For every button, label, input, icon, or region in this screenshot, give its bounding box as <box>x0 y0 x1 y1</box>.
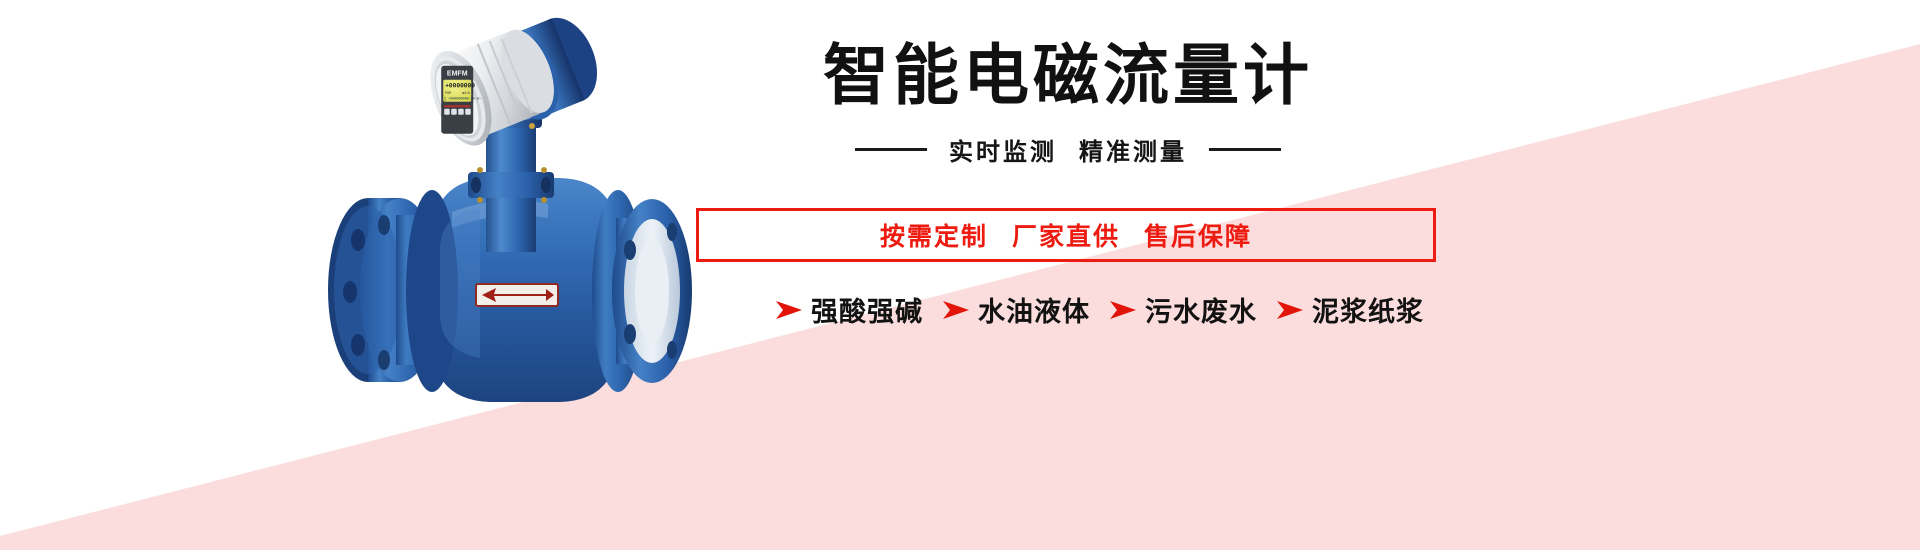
flow-direction-arrow-icon <box>476 284 558 306</box>
feature-label-0: 强酸强碱 <box>811 290 923 329</box>
lcd-main-value: +0000000 <box>445 83 475 90</box>
triangle-right-icon <box>1110 300 1136 320</box>
subtitle-part-two: 精准测量 <box>1079 132 1187 167</box>
lcd-label-right: m3/h <box>462 91 470 96</box>
status-badge: 按需定制 厂家直供 售后保障 <box>696 208 1436 262</box>
feature-item-3: 泥浆纸浆 <box>1277 290 1424 329</box>
subtitle-rule-right <box>1209 148 1281 151</box>
banner-copy: 智能电磁流量计 实时监测 精准测量 按需定制 厂家直供 售后保障 强酸强碱 <box>600 0 1600 550</box>
feature-label-3: 泥浆纸浆 <box>1312 290 1424 329</box>
triangle-right-icon <box>1277 300 1303 320</box>
subtitle-row: 实时监测 精准测量 <box>678 132 1458 167</box>
triangle-right-icon <box>776 300 802 320</box>
promo-banner: EMFM +0000000 FGP m3/h ∑ +000000000.00 m… <box>0 0 1920 550</box>
feature-item-1: 水油液体 <box>943 290 1090 329</box>
feature-item-0: 强酸强碱 <box>776 290 923 329</box>
feature-label-1: 水油液体 <box>978 290 1090 329</box>
transmitter-brand-text: EMFM <box>447 71 468 78</box>
feature-label-2: 污水废水 <box>1145 290 1257 329</box>
triangle-right-icon <box>943 300 969 320</box>
badge-item-two: 厂家直供 <box>1012 217 1120 253</box>
lcd-sub-value: ∑ +000000000.00 m³ <box>444 97 481 102</box>
subtitle-rule-left <box>855 148 927 151</box>
lcd-label-left: FGP <box>445 92 451 96</box>
feature-item-2: 污水废水 <box>1110 290 1257 329</box>
page-title: 智能电磁流量计 <box>678 42 1458 108</box>
badge-item-one: 按需定制 <box>880 217 988 253</box>
subtitle-part-one: 实时监测 <box>949 132 1057 167</box>
badge-item-three: 售后保障 <box>1144 217 1252 253</box>
feature-list: 强酸强碱 水油液体 污水废水 泥浆纸浆 <box>600 290 1600 329</box>
